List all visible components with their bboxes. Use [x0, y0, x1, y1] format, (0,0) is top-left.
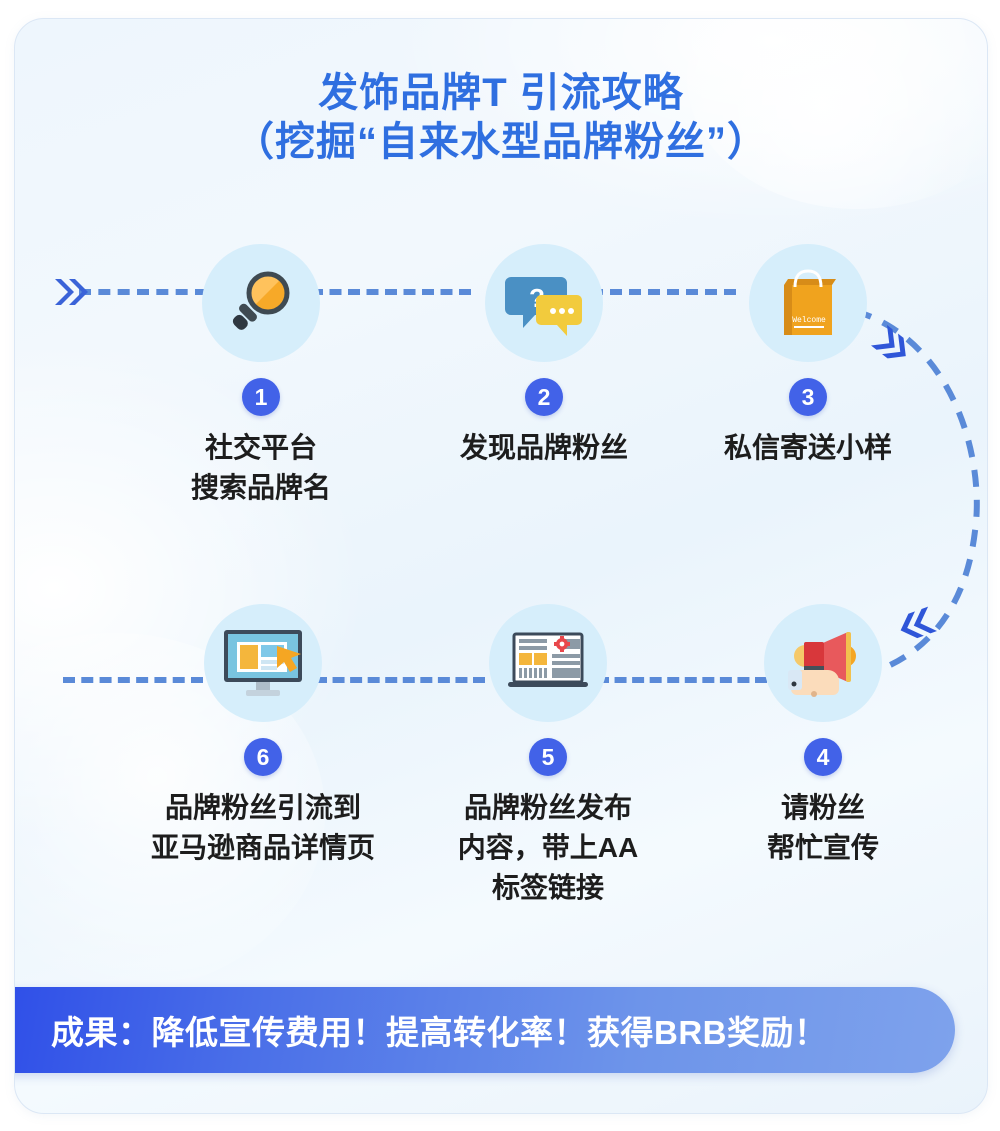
megaphone-icon — [782, 626, 864, 700]
title-line-1: 发饰品牌T 引流攻略 — [15, 69, 987, 118]
step-5-number: 5 — [529, 738, 567, 776]
flow-step-2[interactable]: ? 2 发现品牌粉丝 — [429, 244, 659, 468]
step-5-icon-bubble — [489, 604, 607, 722]
step-3-caption: 私信寄送小样 — [693, 428, 923, 468]
result-banner-text: 成果：降低宣传费用！提高转化率！获得BRB奖励！ — [14, 1006, 828, 1054]
step-1-icon-bubble — [202, 244, 320, 362]
step-3-icon-bubble: Welcome — [749, 244, 867, 362]
step-1-number: 1 — [242, 378, 280, 416]
title-line-2: （挖掘“自来水型品牌粉丝”） — [15, 118, 987, 167]
step-6-icon-bubble — [204, 604, 322, 722]
flow-step-3[interactable]: Welcome 3 私信寄送小样 — [693, 244, 923, 468]
flow-row-bottom: 6 品牌粉丝引流到 亚马逊商品详情页 — [15, 604, 987, 1004]
step-1-caption: 社交平台 搜索品牌名 — [146, 428, 376, 508]
step-6-number: 6 — [244, 738, 282, 776]
flow-step-5[interactable]: 5 品牌粉丝发布 内容，带上AA 标签链接 — [433, 604, 663, 907]
page-title: 发饰品牌T 引流攻略 （挖掘“自来水型品牌粉丝”） — [15, 69, 987, 167]
infographic-canvas: 发饰品牌T 引流攻略 （挖掘“自来水型品牌粉丝”） — [0, 0, 1000, 1131]
infographic-card: 发饰品牌T 引流攻略 （挖掘“自来水型品牌粉丝”） — [14, 18, 988, 1114]
shopping-bag-icon: Welcome — [771, 265, 845, 341]
step-4-caption: 请粉丝 帮忙宣传 — [708, 788, 938, 868]
step-4-number: 4 — [804, 738, 842, 776]
step-2-icon-bubble: ? — [485, 244, 603, 362]
flow-step-6[interactable]: 6 品牌粉丝引流到 亚马逊商品详情页 — [148, 604, 378, 868]
flow-row-top: 1 社交平台 搜索品牌名 ? 2 发现品牌粉丝 — [15, 244, 987, 644]
webpage-gear-icon — [506, 630, 590, 696]
step-2-number: 2 — [525, 378, 563, 416]
chat-bubbles-icon: ? — [505, 267, 583, 339]
magnifier-icon — [224, 266, 298, 340]
bag-welcome-label: Welcome — [792, 316, 826, 325]
flow-step-1[interactable]: 1 社交平台 搜索品牌名 — [146, 244, 376, 508]
desktop-monitor-icon — [219, 626, 307, 700]
flow-step-4[interactable]: 4 请粉丝 帮忙宣传 — [708, 604, 938, 868]
step-5-caption: 品牌粉丝发布 内容，带上AA 标签链接 — [433, 788, 663, 907]
step-2-caption: 发现品牌粉丝 — [429, 428, 659, 468]
step-6-caption: 品牌粉丝引流到 亚马逊商品详情页 — [148, 788, 378, 868]
step-3-number: 3 — [789, 378, 827, 416]
result-banner: 成果：降低宣传费用！提高转化率！获得BRB奖励！ — [14, 987, 955, 1073]
step-4-icon-bubble — [764, 604, 882, 722]
